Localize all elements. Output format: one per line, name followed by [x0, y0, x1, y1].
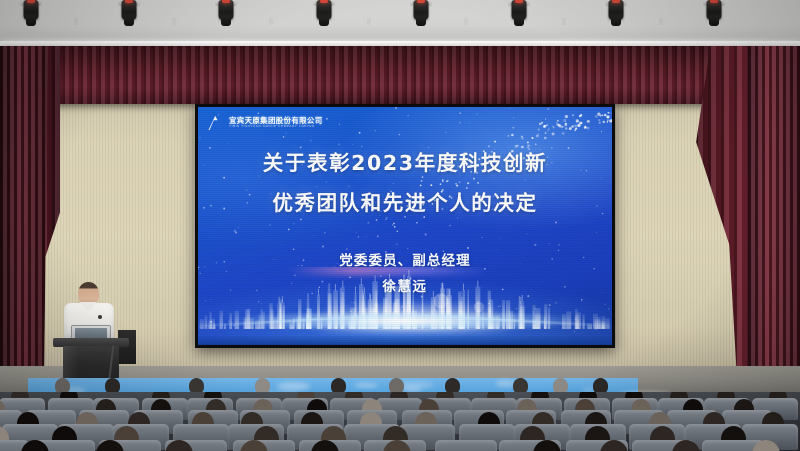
- stage-light-2: [116, 0, 142, 32]
- ceiling-sprinkler: [659, 18, 663, 25]
- slide-title-line-1: 关于表彰2023年度科技创新: [198, 153, 612, 174]
- light-lens: [515, 0, 523, 3]
- mountain-peak-logo-mark: [207, 114, 225, 131]
- auditorium-seat: [435, 440, 497, 451]
- conference-hall-photo: 宜宾天原集团股份有限公司 YIBIN TIANYUAN GROUP COMPAN…: [0, 0, 800, 451]
- ceiling-sprinkler: [562, 18, 566, 25]
- stage-light-4: [311, 0, 337, 32]
- slide-title-line-2: 优秀团队和先进个人的决定: [198, 193, 612, 214]
- light-snoot: [124, 17, 134, 26]
- slide-bottom-band: [198, 335, 612, 345]
- ceiling-panel: [0, 0, 800, 46]
- light-snoot: [611, 17, 621, 26]
- ceiling-sprinkler: [269, 18, 273, 25]
- logo-company-name-en: YIBIN TIANYUAN GROUP COMPANY LIMITED: [229, 125, 323, 128]
- stage-light-3: [213, 0, 239, 32]
- light-snoot: [709, 17, 719, 26]
- stage-light-7: [603, 0, 629, 32]
- stage-curtain-right-outer: [748, 46, 800, 366]
- ceiling-sprinkler: [367, 18, 371, 25]
- light-lens: [612, 0, 620, 3]
- light-snoot: [26, 17, 36, 26]
- light-lens: [710, 0, 718, 3]
- light-lens: [222, 0, 230, 3]
- curtain-valance: [0, 46, 800, 104]
- logo-company-name-cn: 宜宾天原集团股份有限公司: [229, 117, 323, 124]
- ceiling-sprinkler: [464, 18, 468, 25]
- ceiling-sprinkler: [172, 18, 176, 25]
- company-logo: 宜宾天原集团股份有限公司 YIBIN TIANYUAN GROUP COMPAN…: [207, 114, 323, 131]
- stage-light-rail: [0, 0, 800, 40]
- audience-seating: [0, 392, 800, 451]
- ceiling-sprinkler: [74, 18, 78, 25]
- slide-title-block: 关于表彰2023年度科技创新 优秀团队和先进个人的决定: [198, 153, 612, 232]
- led-display-frame: 宜宾天原集团股份有限公司 YIBIN TIANYUAN GROUP COMPAN…: [195, 104, 615, 348]
- presentation-slide: 宜宾天原集团股份有限公司 YIBIN TIANYUAN GROUP COMPAN…: [198, 107, 612, 345]
- podium-with-speaker: [40, 282, 150, 386]
- light-snoot: [319, 17, 329, 26]
- light-snoot: [416, 17, 426, 26]
- speaker-badge: [98, 315, 102, 319]
- horizon-light-line: [198, 313, 612, 329]
- light-lens: [417, 0, 425, 3]
- stage-light-1: [18, 0, 44, 32]
- light-lens: [27, 0, 35, 3]
- light-lens: [125, 0, 133, 3]
- stage-light-6: [506, 0, 532, 32]
- light-lens: [320, 0, 328, 3]
- stage-light-8: [701, 0, 727, 32]
- city-skyline-graphic: [198, 267, 612, 345]
- light-snoot: [514, 17, 524, 26]
- stage-light-5: [408, 0, 434, 32]
- light-snoot: [221, 17, 231, 26]
